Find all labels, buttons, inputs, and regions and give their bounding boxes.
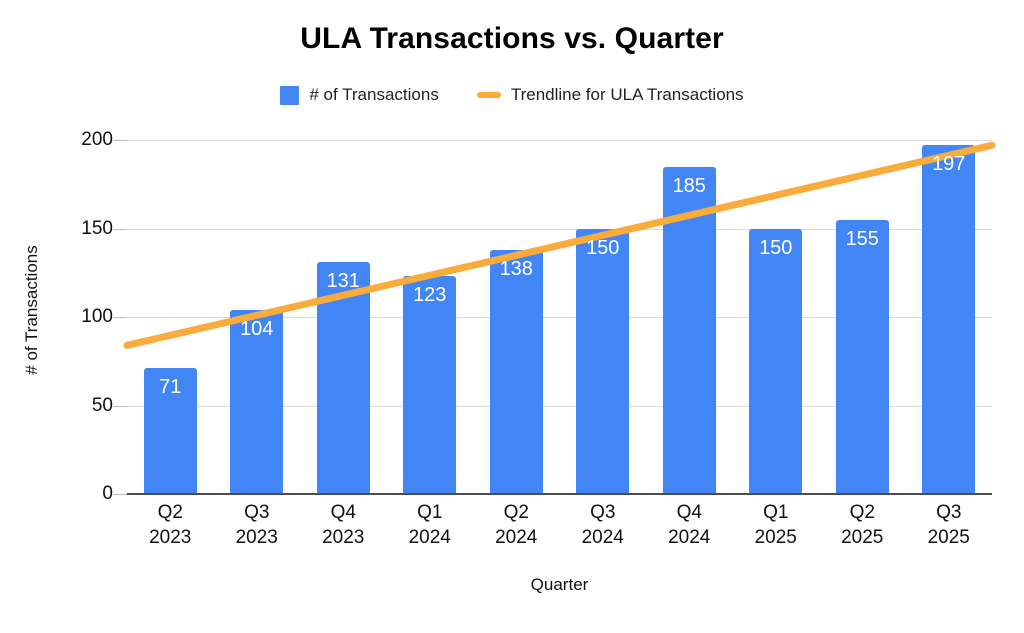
y-axis-tick-label: 100 [43,306,113,328]
chart-legend: # of Transactions Trendline for ULA Tran… [0,85,1024,105]
x-axis-category-label-line: 2023 [214,525,301,550]
x-axis-category-label-line: Q2 [819,500,906,525]
x-axis-category-labels: Q22023Q32023Q42023Q12024Q22024Q32024Q420… [127,500,992,556]
x-axis-category-label-line: 2024 [473,525,560,550]
x-axis-category-label-line: 2024 [387,525,474,550]
bar-value-label: 123 [403,284,456,307]
x-axis-category-label-line: Q3 [214,500,301,525]
legend-item-transactions[interactable]: # of Transactions [280,85,438,105]
bar-value-label: 104 [230,318,283,341]
chart-container: ULA Transactions vs. Quarter # of Transa… [0,0,1024,633]
x-axis-category-label-line: 2023 [127,525,214,550]
x-axis-category-label: Q22025 [819,500,906,550]
plot-area: 71104131123138150185150155197 [127,140,992,494]
x-axis-category-label-line: 2025 [733,525,820,550]
x-axis-category-label: Q22024 [473,500,560,550]
chart-title: ULA Transactions vs. Quarter [0,22,1024,56]
bar-value-label: 150 [749,237,802,260]
bar-value-label: 155 [836,228,889,251]
x-axis-category-label: Q42024 [646,500,733,550]
bar-value-label: 71 [144,376,197,399]
x-axis-line [127,493,992,495]
legend-swatch-square-icon [280,86,299,105]
x-axis-category-label: Q42023 [300,500,387,550]
x-axis-category-label-line: Q1 [387,500,474,525]
y-axis-tick-mark [113,140,127,141]
x-axis-category-label-line: Q1 [733,500,820,525]
x-axis-category-label-line: 2025 [819,525,906,550]
legend-item-trendline[interactable]: Trendline for ULA Transactions [477,85,744,105]
x-axis-category-label-line: 2024 [560,525,647,550]
x-axis-category-label-line: Q3 [560,500,647,525]
y-axis-tick-mark [113,494,127,495]
x-axis-category-label: Q32023 [214,500,301,550]
legend-label-trendline: Trendline for ULA Transactions [511,85,744,105]
x-axis-category-label-line: 2024 [646,525,733,550]
y-axis-title: # of Transactions [22,210,42,410]
y-axis-tick-mark [113,317,127,318]
x-axis-category-label-line: 2025 [906,525,993,550]
x-axis-category-label: Q12024 [387,500,474,550]
y-axis-tick-label: 50 [43,395,113,417]
bar-value-label: 138 [490,258,543,281]
y-axis-tick-label: 200 [43,129,113,151]
x-axis-category-label-line: 2023 [300,525,387,550]
x-axis-category-label-line: Q2 [127,500,214,525]
x-axis-category-label: Q32024 [560,500,647,550]
legend-label-transactions: # of Transactions [309,85,438,105]
x-axis-category-label: Q12025 [733,500,820,550]
x-axis-category-label-line: Q4 [300,500,387,525]
bar-value-label: 150 [576,237,629,260]
bar-value-label: 197 [922,153,975,176]
x-axis-category-label: Q22023 [127,500,214,550]
legend-swatch-line-icon [477,92,501,98]
bar-value-labels: 71104131123138150185150155197 [127,140,992,494]
y-axis-tick-mark [113,229,127,230]
x-axis-category-label: Q32025 [906,500,993,550]
x-axis-category-label-line: Q3 [906,500,993,525]
y-axis-tick-mark [113,406,127,407]
x-axis-title: Quarter [127,575,992,595]
y-axis-tick-label: 150 [43,218,113,240]
y-axis-tick-label: 0 [43,483,113,505]
y-axis-tick-labels: 050100150200 [40,140,113,494]
bar-value-label: 185 [663,175,716,198]
x-axis-category-label-line: Q2 [473,500,560,525]
bar-value-label: 131 [317,270,370,293]
x-axis-category-label-line: Q4 [646,500,733,525]
